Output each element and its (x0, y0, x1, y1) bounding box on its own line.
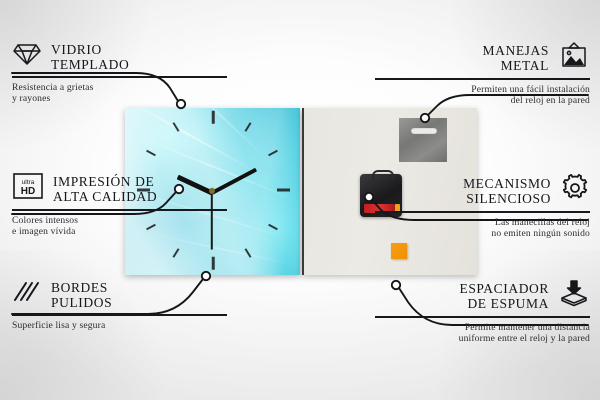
svg-text:ultra: ultra (22, 179, 35, 186)
feature-description: Las manecillas del reloj no emiten ningú… (375, 217, 590, 240)
gear-icon (560, 174, 590, 207)
feature-espaciador-espuma: ESPACIADOR DE ESPUMA Permite mantener un… (375, 279, 590, 345)
hanger-slot (411, 128, 437, 134)
clock-tick-6 (212, 257, 215, 270)
feature-impresion-alta-calidad: ultra HD IMPRESIÓN DE ALTA CALIDAD Color… (12, 172, 227, 238)
foam-spacer-arrow-icon (558, 279, 590, 312)
clock-tick-7 (173, 248, 180, 258)
feature-divider (12, 314, 227, 316)
picture-frame-hanging-icon (558, 41, 590, 74)
clock-tick-2 (268, 150, 278, 156)
polished-edges-icon (12, 279, 42, 310)
feature-divider (375, 316, 590, 318)
feature-title: BORDES PULIDOS (51, 280, 112, 310)
feature-title: MECANISMO SILENCIOSO (463, 176, 551, 206)
clock-tick-12 (212, 111, 215, 124)
feature-description: Colores intensos e imagen vívida (12, 215, 227, 238)
feature-divider (12, 76, 227, 78)
feature-manejas-metal: MANEJAS METAL Permiten una fácil instala… (375, 41, 590, 107)
feature-title: MANEJAS METAL (483, 43, 549, 73)
feature-divider (375, 78, 590, 80)
feature-divider (375, 211, 590, 213)
clock-tick-1 (245, 122, 252, 132)
feature-description: Permiten una fácil instalación del reloj… (375, 84, 590, 107)
feature-divider (12, 209, 227, 211)
svg-text:HD: HD (21, 186, 35, 197)
feature-title: IMPRESIÓN DE ALTA CALIDAD (53, 174, 157, 204)
ultra-hd-icon: ultra HD (12, 172, 44, 205)
feature-description: Permite mantener una distancia uniforme … (375, 322, 590, 345)
diamond-icon (12, 41, 42, 72)
feature-description: Superficie lisa y segura (12, 320, 227, 332)
metal-hanger (399, 118, 447, 162)
feature-mecanismo-silencioso: MECANISMO SILENCIOSO Las manecillas del … (375, 174, 590, 240)
foam-spacer (391, 243, 407, 259)
feature-vidrio-templado: VIDRIO TEMPLADO Resistencia a grietas y … (12, 41, 227, 105)
clock-tick-10 (146, 150, 156, 156)
feature-title: VIDRIO TEMPLADO (51, 42, 129, 72)
infographic-canvas: VIDRIO TEMPLADO Resistencia a grietas y … (0, 0, 600, 400)
feature-title: ESPACIADOR DE ESPUMA (459, 281, 549, 311)
clock-tick-3 (277, 189, 290, 192)
feature-description: Resistencia a grietas y rayones (12, 82, 227, 105)
feature-bordes-pulidos: BORDES PULIDOS Superficie lisa y segura (12, 279, 227, 331)
clock-tick-4 (268, 224, 278, 230)
